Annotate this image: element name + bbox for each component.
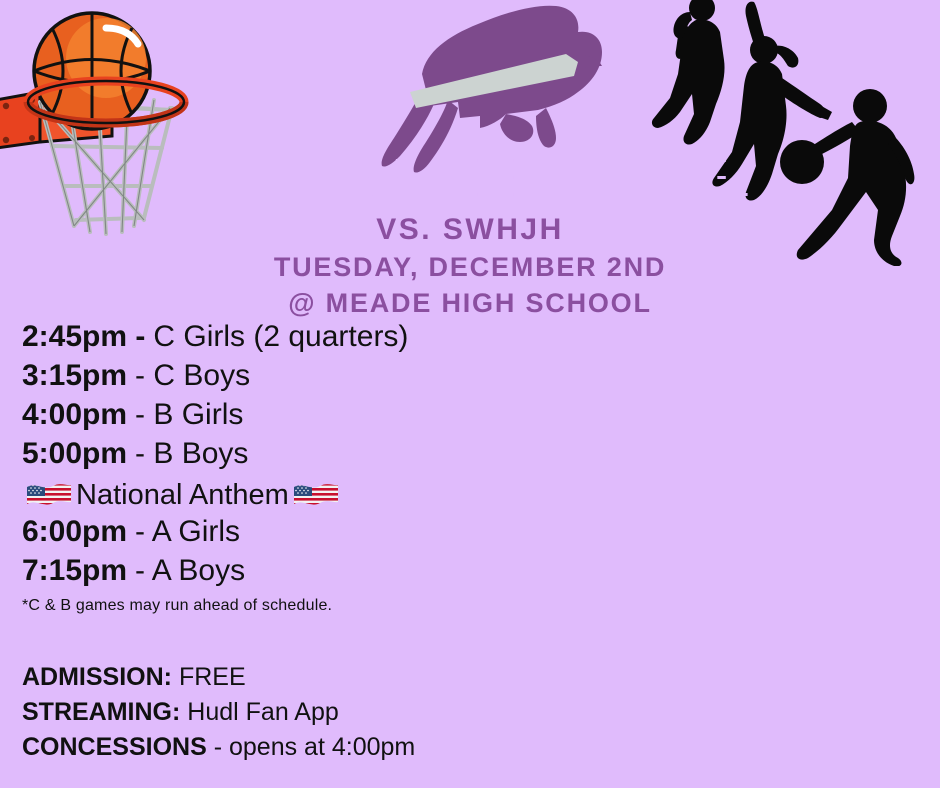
info-value: Hudl Fan App [187,698,339,726]
schedule-time: 6:00pm [22,515,127,549]
basketball-game-flyer: MJH BASKETBALL VS. SWHJH TUESDAY, DECEMB… [0,0,940,788]
schedule-time: 2:45pm - [22,320,145,354]
info-value: - opens at 4:00pm [214,733,416,761]
info-label: ADMISSION: [22,663,172,691]
schedule-row: 4:00pm - B Girls [22,398,662,437]
info-label: STREAMING: [22,698,180,726]
schedule-row: 3:15pm - C Boys [22,359,662,398]
info-value: FREE [179,663,246,691]
opponent-subtitle: VS. SWHJH [0,213,940,247]
schedule-row: 2:45pm - C Girls (2 quarters) [22,320,662,359]
schedule-time: 5:00pm [22,437,127,471]
page-title: MJH BASKETBALL [0,150,940,209]
national-anthem-label: National Anthem [76,479,289,512]
schedule-event: - B Girls [135,398,243,432]
game-schedule: 2:45pm - C Girls (2 quarters) 3:15pm - C… [22,320,662,615]
schedule-row: 6:00pm - A Girls [22,515,662,554]
schedule-event: - C Boys [135,359,250,393]
schedule-time: 7:15pm [22,554,127,588]
info-label: CONCESSIONS [22,733,207,761]
usa-flag-icon [293,482,339,510]
headline-block: MJH BASKETBALL VS. SWHJH TUESDAY, DECEMB… [0,150,940,319]
schedule-time: 4:00pm [22,398,127,432]
schedule-row: 7:15pm - A Boys [22,554,662,593]
schedule-row: 5:00pm - B Boys [22,437,662,476]
schedule-event: - B Boys [135,437,248,471]
event-venue: @ MEADE HIGH SCHOOL [0,288,940,319]
info-row-streaming: STREAMING: Hudl Fan App [22,695,722,730]
schedule-footnote: *C & B games may run ahead of schedule. [22,597,662,615]
event-info-block: ADMISSION: FREE STREAMING: Hudl Fan App … [22,660,722,765]
schedule-time: 3:15pm [22,359,127,393]
info-row-admission: ADMISSION: FREE [22,660,722,695]
event-date: TUESDAY, DECEMBER 2ND [0,252,940,283]
info-row-concessions: CONCESSIONS - opens at 4:00pm [22,730,722,765]
schedule-event: - A Boys [135,554,245,588]
usa-flag-icon [26,482,72,510]
national-anthem-row: National Anthem [22,476,662,515]
schedule-event: C Girls (2 quarters) [153,320,408,354]
schedule-event: - A Girls [135,515,240,549]
